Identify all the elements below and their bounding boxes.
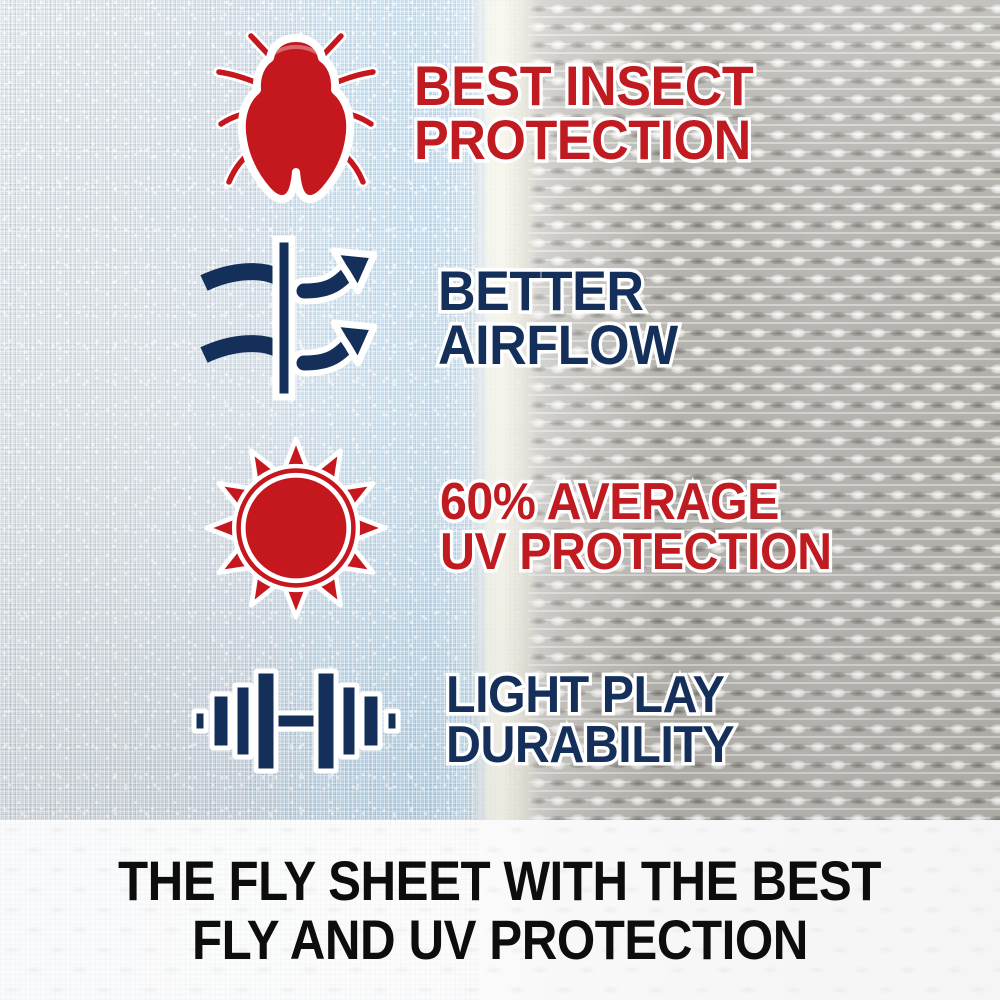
caption-band: THE FLY SHEET WITH THE BEST FLY AND UV P… — [0, 820, 1000, 1000]
infographic-root: BEST INSECT PROTECTION — [0, 0, 1000, 1000]
caption-line-1: THE FLY SHEET WITH THE BEST — [119, 852, 882, 909]
feature-label-insect-protection: BEST INSECT PROTECTION — [414, 59, 753, 167]
airflow-icon — [196, 238, 396, 398]
caption-line-2: FLY AND UV PROTECTION — [192, 911, 808, 968]
feature-row-airflow: BETTER AIRFLOW — [196, 238, 696, 398]
feature-label-durability: LIGHT PLAY DURABILITY — [446, 671, 734, 771]
fly-icon — [196, 18, 396, 208]
feature-row-uv-protection: 60% AVERAGE UV PROTECTION — [196, 438, 861, 618]
dumbbell-icon — [196, 656, 396, 786]
feature-label-uv-protection: 60% AVERAGE UV PROTECTION — [440, 478, 832, 578]
feature-label-airflow: BETTER AIRFLOW — [438, 264, 678, 372]
feature-list: BEST INSECT PROTECTION — [0, 0, 1000, 820]
feature-row-durability: LIGHT PLAY DURABILITY — [196, 656, 756, 786]
feature-row-insect-protection: BEST INSECT PROTECTION — [196, 18, 779, 208]
sun-uv-icon — [196, 438, 396, 618]
